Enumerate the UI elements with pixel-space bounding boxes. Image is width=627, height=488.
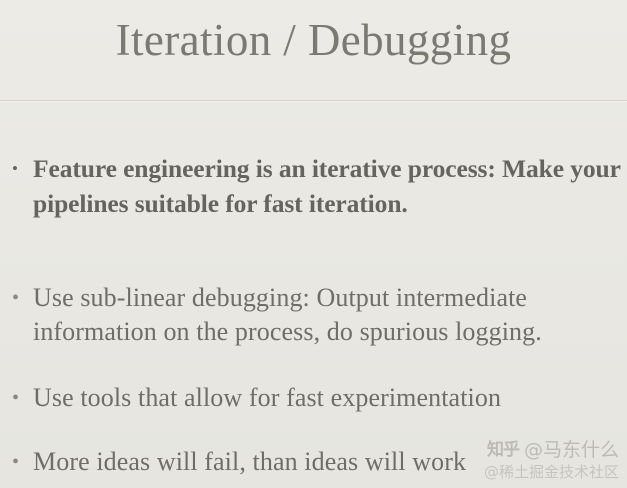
list-item: • Feature engineering is an iterative pr…: [10, 151, 622, 221]
title-divider-highlight: [0, 101, 627, 102]
bullet-point-icon: •: [10, 151, 33, 186]
list-item-text: Use tools that allow for fast experiment…: [33, 381, 622, 415]
bullet-point-icon: •: [10, 281, 33, 315]
list-item-text: Feature engineering is an iterative proc…: [33, 151, 622, 221]
list-item-text: Use sub-linear debugging: Output interme…: [33, 281, 622, 349]
list-item: • Use tools that allow for fast experime…: [10, 381, 622, 415]
slide-title-area: Iteration / Debugging: [0, 0, 627, 100]
slide-canvas: Iteration / Debugging • Feature engineer…: [0, 0, 627, 488]
list-item-text: More ideas will fail, than ideas will wo…: [33, 445, 622, 479]
bullet-point-icon: •: [10, 445, 33, 479]
page-title: Iteration / Debugging: [0, 13, 627, 67]
list-item: • Use sub-linear debugging: Output inter…: [10, 281, 622, 349]
bullet-point-icon: •: [10, 381, 33, 415]
list-item: • More ideas will fail, than ideas will …: [10, 445, 622, 479]
